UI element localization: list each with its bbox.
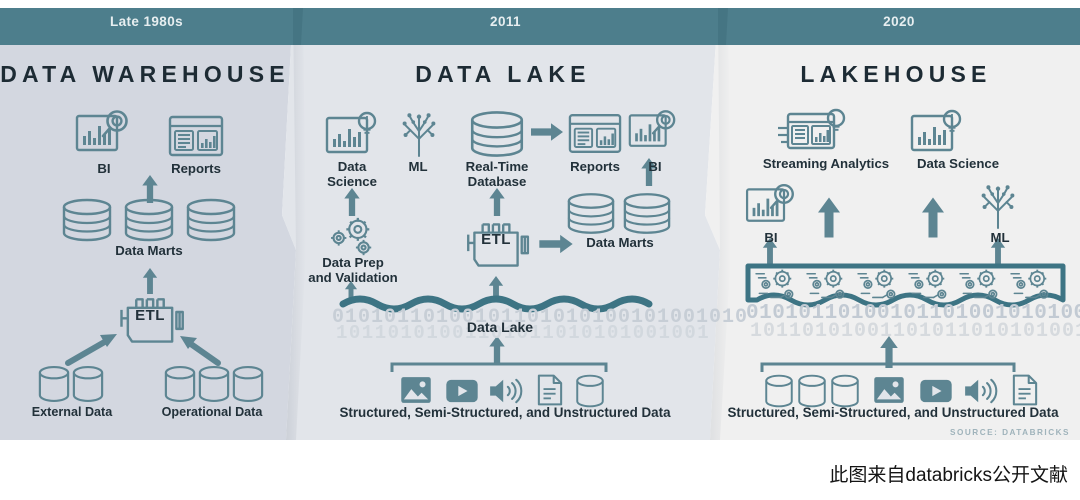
label-data-science-1: Data — [320, 159, 384, 174]
label-data-science-2: Science — [320, 174, 384, 189]
image-icon — [874, 377, 903, 403]
label-etl: ETL — [469, 232, 523, 247]
label-bottom-sources: Structured, Semi-Structured, and Unstruc… — [300, 405, 710, 420]
label-reports: Reports — [165, 161, 227, 176]
label-data-marts: Data Marts — [99, 243, 199, 258]
video-icon — [920, 380, 951, 402]
label-operational-data: Operational Data — [142, 405, 282, 420]
label-external-data: External Data — [16, 405, 128, 420]
label-ml: ML — [392, 159, 444, 174]
label-data-science: Data Science — [903, 156, 1013, 171]
era-label-3: 2020 — [718, 14, 1080, 29]
panel-title-1: DATA WAREHOUSE — [0, 61, 290, 88]
label-bi: BI — [74, 161, 134, 176]
label-bi: BI — [633, 159, 677, 174]
lakehouse-evolution-diagram: Late 1980s 2011 2020 DATA WAREHOUSE DATA… — [0, 0, 1080, 447]
label-data-marts: Data Marts — [571, 235, 669, 250]
label-bottom-sources: Structured, Semi-Structured, and Unstruc… — [718, 405, 1068, 420]
label-realtime-1: Real-Time — [456, 159, 538, 174]
image-icon — [401, 377, 430, 403]
label-ml: ML — [977, 230, 1023, 245]
label-data-lake: Data Lake — [450, 320, 550, 335]
source-attribution: SOURCE: DATABRICKS — [950, 428, 1070, 437]
panel-title-2: DATA LAKE — [293, 61, 713, 88]
figure-caption: 此图来自databricks公开文献 — [0, 452, 1080, 500]
label-bi: BI — [748, 230, 794, 245]
label-etl: ETL — [120, 308, 180, 323]
era-label-2: 2011 — [293, 14, 718, 29]
label-reports: Reports — [561, 159, 629, 174]
era-label-1: Late 1980s — [0, 14, 293, 29]
label-realtime-2: Database — [456, 174, 538, 189]
binary-texture: 1011010100110101101010100100 1 — [750, 320, 1080, 343]
panel-title-3: LAKEHOUSE — [716, 61, 1076, 88]
video-icon — [446, 380, 477, 402]
label-data-prep-2: and Validation — [302, 270, 404, 285]
label-data-prep-1: Data Prep — [315, 255, 391, 270]
label-streaming-analytics: Streaming Analytics — [750, 156, 902, 171]
